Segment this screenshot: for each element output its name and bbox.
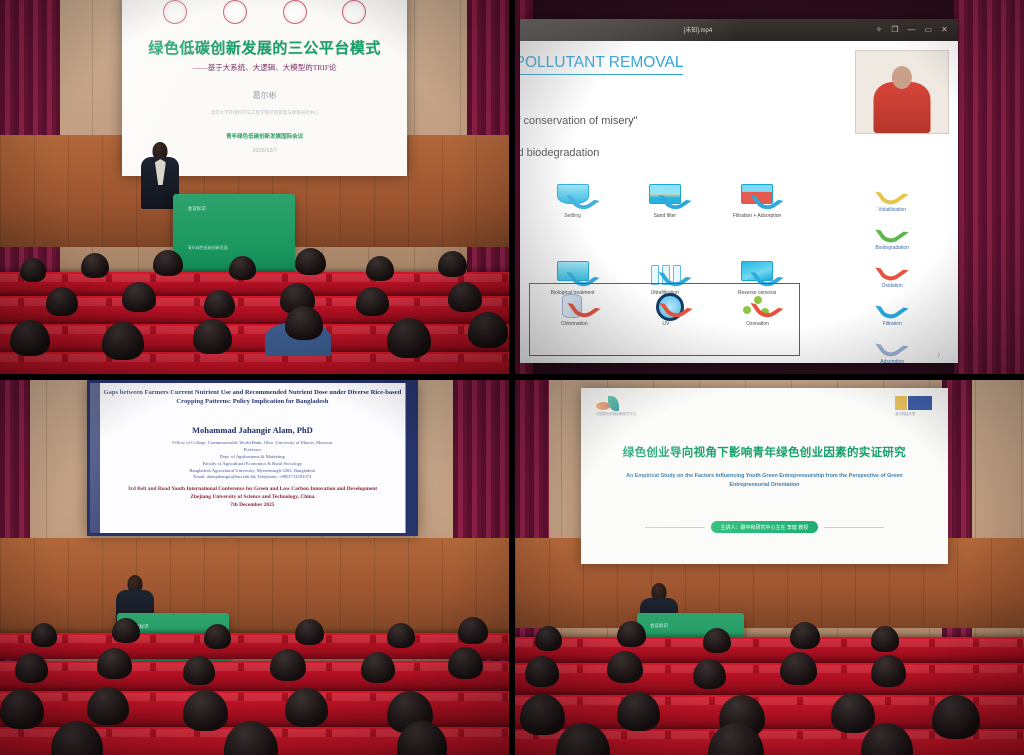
process-label: Filtration + Adsorption bbox=[718, 214, 797, 220]
slide-speaker-name: 葛尔彬 bbox=[122, 90, 407, 101]
collage-panel-bottom-right: 中国绿色低碳创新研究中心 浙江科技大学 绿色创业导向视角下影响青年绿色创业因素的… bbox=[515, 380, 1024, 755]
slide-subtitle: ——基于大系统、大逻辑、大模型的TRIF论 bbox=[122, 62, 407, 73]
seal-icon bbox=[163, 0, 187, 24]
legend-item: Adsorption bbox=[840, 334, 945, 362]
slide-title: Gaps between Farmers Current Nutrient Us… bbox=[103, 388, 403, 407]
slide-subtitle: An Empirical Study on the Factors Influe… bbox=[610, 472, 918, 489]
stage-curtain-right bbox=[954, 0, 1024, 374]
left-logo-text: 中国绿色低碳创新研究中心 bbox=[596, 411, 637, 416]
legend-item: Biodegradation bbox=[840, 220, 945, 251]
legend-label: Oxidation bbox=[882, 283, 903, 289]
process-item: Settling bbox=[533, 182, 612, 220]
slide-presenter: Mohammad Jahangir Alam, PhD bbox=[90, 425, 416, 435]
slide-title: 绿色低碳创新发展的三公平台模式 bbox=[122, 37, 407, 58]
seal-icon bbox=[342, 0, 366, 24]
process-label: Ozonation bbox=[718, 322, 796, 328]
seal-icon bbox=[283, 0, 307, 24]
photo-collage: 绿色低碳创新发展的三公平台模式 ——基于大系统、大逻辑、大模型的TRIF论 葛尔… bbox=[0, 0, 1024, 755]
biodegradation-icon bbox=[875, 215, 909, 248]
maximize-icon[interactable]: ▭ bbox=[925, 26, 933, 34]
legend-item: Oxidation bbox=[840, 258, 945, 289]
left-logo: 中国绿色低碳创新研究中心 bbox=[596, 396, 630, 412]
projection-screen: [未知].mp4 ✧ ❐ — ▭ ✕ OPOLLUTANT REMOVAL of… bbox=[520, 19, 958, 363]
slide-affiliation: Fellow of College, Commonwealth, World B… bbox=[109, 440, 396, 481]
seal-icon bbox=[223, 0, 247, 24]
audience-seating bbox=[0, 605, 509, 755]
slide-title: 绿色创业导向视角下影响青年绿色创业因素的实证研究 bbox=[581, 444, 947, 460]
audience-seating bbox=[515, 605, 1024, 755]
slide-bullet-2: ed biodegradation bbox=[520, 147, 599, 159]
slide-page-number: 7 bbox=[937, 354, 940, 360]
university-seals bbox=[122, 0, 407, 29]
legend-label: Biodegradation bbox=[875, 245, 909, 251]
process-item: Sand filter bbox=[625, 182, 704, 220]
podium-logo: 会议标识 bbox=[188, 206, 206, 212]
highlight-box: Chlorination UV Ozonation bbox=[529, 283, 800, 356]
process-label: Chlorination bbox=[535, 322, 613, 328]
picture-in-picture-icon[interactable]: ❐ bbox=[891, 26, 898, 34]
video-window-titlebar: [未知].mp4 ✧ ❐ — ▭ ✕ bbox=[520, 19, 958, 41]
close-icon[interactable]: ✕ bbox=[941, 26, 948, 34]
speaking-indicator-bar: 正在讲话 bbox=[855, 50, 949, 51]
process-label: Settling bbox=[533, 214, 612, 220]
process-item: Filtration + Adsorption bbox=[718, 182, 797, 220]
volatilization-icon bbox=[875, 177, 909, 210]
process-item: Ozonation bbox=[718, 290, 796, 328]
video-filename: [未知].mp4 bbox=[520, 25, 876, 34]
speaker-badge-row: 主讲人：碳中和研究中心主任 李健 教授 bbox=[581, 521, 947, 533]
projection-screen: 中国绿色低碳创新研究中心 浙江科技大学 绿色创业导向视角下影响青年绿色创业因素的… bbox=[581, 388, 947, 564]
legend-item: Volatilization bbox=[840, 182, 945, 213]
process-label: Sand filter bbox=[625, 214, 704, 220]
filtration-icon bbox=[875, 291, 909, 324]
right-logo: 浙江科技大学 bbox=[895, 396, 933, 414]
legend: Volatilization Biodegradation Oxidation … bbox=[840, 182, 945, 362]
legend-label: Volatilization bbox=[878, 207, 906, 213]
oxidation-icon bbox=[875, 253, 909, 286]
process-item: UV bbox=[627, 290, 705, 328]
slide-title: OPOLLUTANT REMOVAL bbox=[520, 54, 683, 75]
slide-affiliation: 北京大学环境科学与工程学院环境管理与政策研究中心 bbox=[122, 110, 407, 116]
legend-item: Filtration bbox=[840, 296, 945, 327]
slide-conference: 青年绿色低碳创新发展国际会议 bbox=[122, 132, 407, 140]
right-logo-text: 浙江科技大学 bbox=[895, 411, 915, 416]
legend-label: Filtration bbox=[883, 321, 902, 327]
collage-panel-top-left: 绿色低碳创新发展的三公平台模式 ——基于大系统、大逻辑、大模型的TRIF论 葛尔… bbox=[0, 0, 509, 374]
slide-conference: 3rd Belt and Road Youth International Co… bbox=[106, 485, 399, 509]
collage-panel-top-right: [未知].mp4 ✧ ❐ — ▭ ✕ OPOLLUTANT REMOVAL of… bbox=[515, 0, 1024, 374]
speaker-badge: 主讲人：碳中和研究中心主任 李健 教授 bbox=[711, 521, 819, 533]
pin-icon[interactable]: ✧ bbox=[876, 26, 883, 34]
slide-bullet-1: of conservation of misery" bbox=[520, 115, 637, 127]
process-label: UV bbox=[627, 322, 705, 328]
adsorption-icon bbox=[875, 329, 909, 362]
minimize-icon[interactable]: — bbox=[908, 26, 916, 34]
projection-screen: Gaps between Farmers Current Nutrient Us… bbox=[87, 380, 419, 536]
legend-label: Adsorption bbox=[880, 359, 904, 362]
video-participant-thumbnail[interactable]: 正在讲话 bbox=[855, 50, 949, 135]
process-item: Chlorination bbox=[535, 290, 613, 328]
audience-seating bbox=[0, 247, 509, 374]
collage-panel-bottom-left: Gaps between Farmers Current Nutrient Us… bbox=[0, 380, 509, 755]
